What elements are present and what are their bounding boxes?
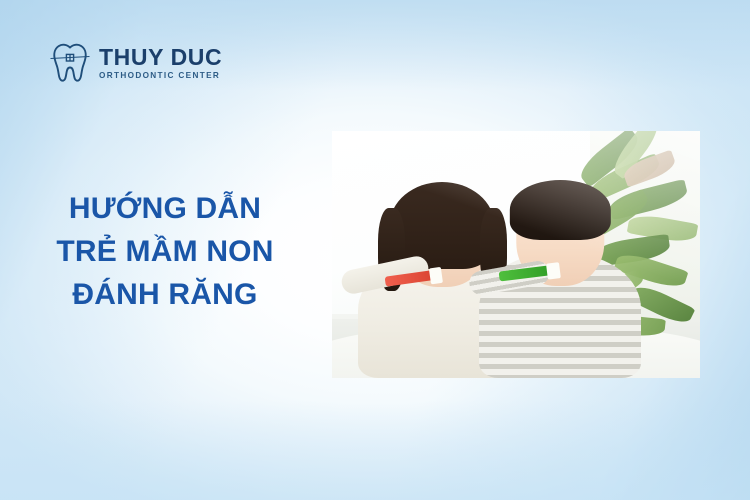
banner-root: THUY DUC ORTHODONTIC CENTER HƯỚNG DẪN TR… — [0, 0, 750, 500]
brand-subtitle: ORTHODONTIC CENTER — [99, 72, 222, 80]
children-brushing-teeth-photo — [332, 131, 700, 378]
headline-line-2: TRẺ MẦM NON — [0, 231, 330, 274]
tooth-with-braces-icon — [50, 42, 90, 84]
toothbrush-red-bristles — [429, 267, 443, 284]
brand-logo-text: THUY DUC ORTHODONTIC CENTER — [99, 46, 222, 81]
brand-name: THUY DUC — [99, 46, 222, 69]
headline-block: HƯỚNG DẪN TRẺ MẦM NON ĐÁNH RĂNG — [0, 188, 330, 317]
headline-line-3: ĐÁNH RĂNG — [0, 274, 330, 317]
headline-line-1: HƯỚNG DẪN — [0, 188, 330, 231]
toothbrush-green-bristles — [546, 262, 561, 279]
child-boy — [479, 178, 641, 378]
brand-logo[interactable]: THUY DUC ORTHODONTIC CENTER — [50, 42, 222, 84]
boy-hair — [510, 180, 610, 240]
